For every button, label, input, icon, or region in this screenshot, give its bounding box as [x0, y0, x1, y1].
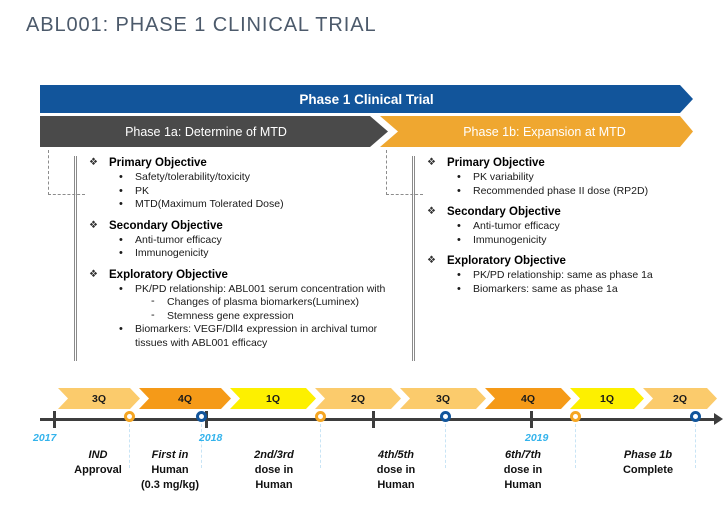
- milestone-line: Phase 1b: [600, 448, 696, 463]
- objective-group: ❖Secondary Objective•Anti-tumor efficacy…: [427, 205, 722, 247]
- objective-item-label: PK/PD relationship: ABL001 serum concent…: [135, 283, 385, 295]
- bullet-icon: •: [119, 283, 123, 297]
- milestone-line: 2nd/3rd: [226, 448, 322, 463]
- timeline-milestone-label: Phase 1bComplete: [600, 448, 696, 478]
- diamond-bullet-icon: ❖: [427, 205, 447, 219]
- diamond-bullet-icon: ❖: [89, 219, 109, 233]
- diamond-bullet-icon: ❖: [89, 268, 109, 282]
- objectives-column-phase-1b: ❖Primary Objective•PK variability•Recomm…: [412, 156, 722, 361]
- bullet-icon: •: [119, 323, 123, 337]
- objective-item-list: •Anti-tumor efficacy•Immunogenicity: [89, 234, 404, 261]
- bullet-icon: •: [457, 185, 461, 199]
- milestone-line: First in: [122, 448, 218, 463]
- milestone-line: 6th/7th: [475, 448, 571, 463]
- timeline-tick: [530, 411, 533, 428]
- objective-heading: ❖Primary Objective: [427, 156, 722, 170]
- objective-item-label: Biomarkers: same as phase 1a: [473, 283, 618, 295]
- timeline-quarter-chevron[interactable]: 1Q: [230, 388, 316, 409]
- milestone-line: Human: [475, 478, 571, 493]
- milestone-line: (0.3 mg/kg): [122, 478, 218, 493]
- bullet-icon: •: [119, 171, 123, 185]
- objective-heading-label: Secondary Objective: [109, 219, 223, 233]
- objective-item: •Biomarkers: VEGF/Dll4 expression in arc…: [135, 323, 404, 350]
- objective-group: ❖Exploratory Objective•PK/PD relationshi…: [89, 268, 404, 351]
- objective-subitem-label: Changes of plasma biomarkers(Luminex): [167, 296, 359, 308]
- objective-subitem: -Stemness gene expression: [167, 310, 404, 324]
- objective-item-list: •PK/PD relationship: same as phase 1a•Bi…: [427, 269, 722, 296]
- objective-item: •PK/PD relationship: same as phase 1a: [473, 269, 722, 283]
- timeline-tick: [372, 411, 375, 428]
- timeline-axis-line: [40, 418, 718, 421]
- milestone-line: dose in: [475, 463, 571, 478]
- timeline: 3Q4Q1Q2Q3Q4Q1Q2Q 201720182019 INDApprova…: [0, 380, 728, 522]
- objective-item: •Anti-tumor efficacy: [135, 234, 404, 248]
- objective-item: •PK: [135, 185, 404, 199]
- objective-item: •Safety/tolerability/toxicity: [135, 171, 404, 185]
- chevron-phase-1a[interactable]: Phase 1a: Determine of MTD: [40, 116, 388, 147]
- milestone-line: Human: [226, 478, 322, 493]
- bullet-icon: •: [119, 198, 123, 212]
- timeline-milestone-label: 6th/7thdose inHuman: [475, 448, 571, 493]
- objective-item: •Anti-tumor efficacy: [473, 220, 722, 234]
- bullet-icon: •: [457, 269, 461, 283]
- objective-heading-label: Primary Objective: [109, 156, 207, 170]
- diamond-bullet-icon: ❖: [89, 156, 109, 170]
- timeline-arrow-icon: [714, 413, 723, 425]
- objective-item-label: MTD(Maximum Tolerated Dose): [135, 198, 284, 210]
- objective-group: ❖Exploratory Objective•PK/PD relationshi…: [427, 254, 722, 296]
- timeline-year-label: 2018: [199, 432, 222, 444]
- diamond-bullet-icon: ❖: [427, 156, 447, 170]
- bullet-icon: •: [457, 283, 461, 297]
- milestone-line: 4th/5th: [348, 448, 444, 463]
- dash-bullet-icon: -: [151, 309, 155, 323]
- bullet-icon: •: [457, 234, 461, 248]
- objective-item: •Immunogenicity: [135, 247, 404, 261]
- bullet-icon: •: [457, 171, 461, 185]
- timeline-drop-line: [575, 424, 577, 468]
- objective-heading-label: Exploratory Objective: [109, 268, 228, 282]
- objective-heading-label: Primary Objective: [447, 156, 545, 170]
- objective-item-label: Anti-tumor efficacy: [135, 234, 222, 246]
- objective-heading: ❖Exploratory Objective: [427, 254, 722, 268]
- bullet-icon: •: [119, 247, 123, 261]
- page-title: ABL001: PHASE 1 CLINICAL TRIAL: [26, 14, 377, 37]
- objective-item-list: •Safety/tolerability/toxicity•PK•MTD(Max…: [89, 171, 404, 212]
- objective-item-label: Recommended phase II dose (RP2D): [473, 185, 648, 197]
- milestone-line: dose in: [348, 463, 444, 478]
- timeline-quarter-chevrons: 3Q4Q1Q2Q3Q4Q1Q2Q: [0, 388, 728, 409]
- timeline-milestone-label: 2nd/3rddose inHuman: [226, 448, 322, 493]
- timeline-quarter-chevron[interactable]: 4Q: [485, 388, 571, 409]
- objective-subitem-label: Stemness gene expression: [167, 310, 294, 322]
- bullet-icon: •: [119, 234, 123, 248]
- objective-heading-label: Secondary Objective: [447, 205, 561, 219]
- objective-heading: ❖Exploratory Objective: [89, 268, 404, 282]
- objectives-column-phase-1a: ❖Primary Objective•Safety/tolerability/t…: [74, 156, 404, 361]
- dash-bullet-icon: -: [151, 295, 155, 309]
- timeline-milestone-marker[interactable]: [315, 411, 326, 422]
- objective-item-list: •Anti-tumor efficacy•Immunogenicity: [427, 220, 722, 247]
- objective-item-list: •PK/PD relationship: ABL001 serum concen…: [89, 283, 404, 351]
- timeline-quarter-chevron[interactable]: 3Q: [58, 388, 140, 409]
- bullet-icon: •: [119, 185, 123, 199]
- objective-subitem: -Changes of plasma biomarkers(Luminex): [167, 296, 404, 310]
- timeline-milestone-marker[interactable]: [570, 411, 581, 422]
- objective-group: ❖Secondary Objective•Anti-tumor efficacy…: [89, 219, 404, 261]
- bullet-icon: •: [457, 220, 461, 234]
- milestone-line: Human: [348, 478, 444, 493]
- objective-item: •Immunogenicity: [473, 234, 722, 248]
- timeline-year-label: 2017: [33, 432, 56, 444]
- timeline-milestone-marker[interactable]: [440, 411, 451, 422]
- diamond-bullet-icon: ❖: [427, 254, 447, 268]
- objective-item: •PK/PD relationship: ABL001 serum concen…: [135, 283, 404, 324]
- objective-group: ❖Primary Objective•Safety/tolerability/t…: [89, 156, 404, 212]
- timeline-quarter-chevron[interactable]: 1Q: [570, 388, 644, 409]
- banner-phase-row: Phase 1a: Determine of MTD Phase 1b: Exp…: [40, 116, 693, 147]
- objective-item-label: Immunogenicity: [135, 247, 209, 259]
- milestone-line: Complete: [600, 463, 696, 478]
- phase-banner: Phase 1 Clinical Trial Phase 1a: Determi…: [40, 85, 693, 147]
- timeline-milestone-label: 4th/5thdose inHuman: [348, 448, 444, 493]
- objective-item-label: PK variability: [473, 171, 534, 183]
- objective-heading: ❖Secondary Objective: [427, 205, 722, 219]
- objective-item-label: PK: [135, 185, 149, 197]
- timeline-quarter-chevron[interactable]: 2Q: [315, 388, 401, 409]
- timeline-quarter-chevron[interactable]: 4Q: [139, 388, 231, 409]
- milestone-line: dose in: [226, 463, 322, 478]
- timeline-drop-line: [445, 424, 447, 468]
- objective-heading: ❖Secondary Objective: [89, 219, 404, 233]
- timeline-milestone-marker[interactable]: [690, 411, 701, 422]
- objective-item: •PK variability: [473, 171, 722, 185]
- objective-heading-label: Exploratory Objective: [447, 254, 566, 268]
- objective-heading: ❖Primary Objective: [89, 156, 404, 170]
- banner-overall-label: Phase 1 Clinical Trial: [40, 85, 693, 113]
- objective-item-list: •PK variability•Recommended phase II dos…: [427, 171, 722, 198]
- timeline-milestone-marker[interactable]: [196, 411, 207, 422]
- objective-item: •Biomarkers: same as phase 1a: [473, 283, 722, 297]
- objective-item-label: Anti-tumor efficacy: [473, 220, 560, 232]
- objective-item-label: Immunogenicity: [473, 234, 547, 246]
- objective-item-label: Safety/tolerability/toxicity: [135, 171, 250, 183]
- timeline-tick: [53, 411, 56, 428]
- objective-item: •MTD(Maximum Tolerated Dose): [135, 198, 404, 212]
- timeline-milestone-label: First inHuman(0.3 mg/kg): [122, 448, 218, 493]
- timeline-year-label: 2019: [525, 432, 548, 444]
- objective-item-label: PK/PD relationship: same as phase 1a: [473, 269, 653, 281]
- objective-subitem-list: -Changes of plasma biomarkers(Luminex)-S…: [135, 296, 404, 323]
- objective-item-label: Biomarkers: VEGF/Dll4 expression in arch…: [135, 323, 377, 349]
- timeline-quarter-chevron[interactable]: 3Q: [400, 388, 486, 409]
- timeline-quarter-chevron[interactable]: 2Q: [643, 388, 717, 409]
- milestone-line: Human: [122, 463, 218, 478]
- objective-item: •Recommended phase II dose (RP2D): [473, 185, 722, 199]
- chevron-phase-1b[interactable]: Phase 1b: Expansion at MTD: [380, 116, 693, 147]
- timeline-milestone-marker[interactable]: [124, 411, 135, 422]
- objective-group: ❖Primary Objective•PK variability•Recomm…: [427, 156, 722, 198]
